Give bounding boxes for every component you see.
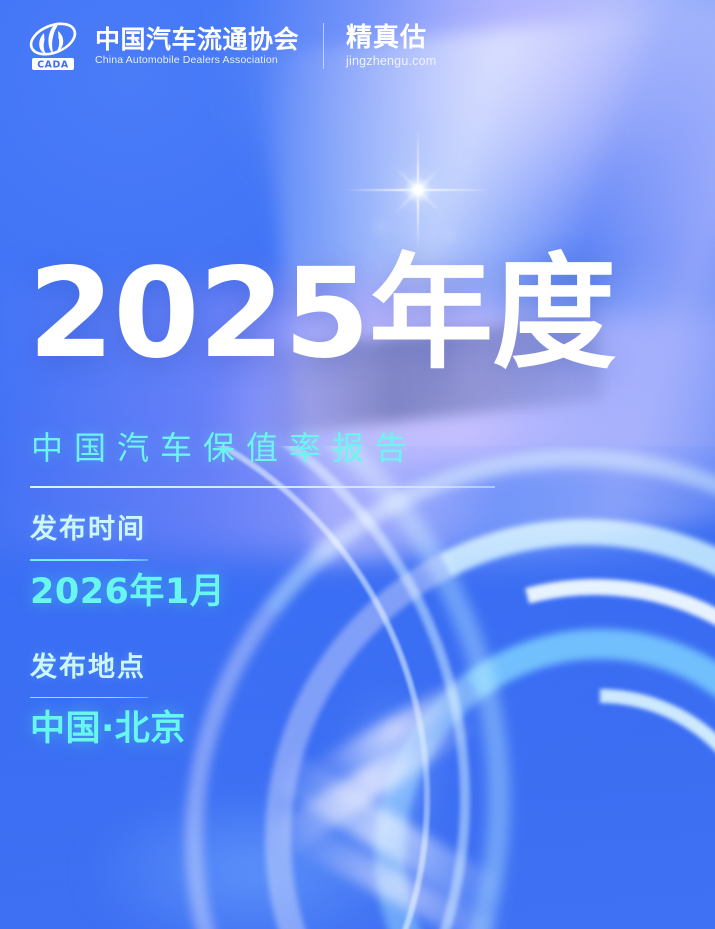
cada-emblem-icon: CADA: [24, 19, 82, 73]
release-time-label: 发布时间: [30, 516, 225, 543]
page-title: 2025年度: [28, 252, 615, 376]
cada-logo: CADA 中国汽车流通协会 China Automobile Dealers A…: [24, 19, 299, 73]
release-place-value: 中国·北京: [30, 712, 225, 747]
cada-name-cn: 中国汽车流通协会: [95, 27, 299, 52]
svg-text:CADA: CADA: [37, 59, 69, 70]
page-subtitle: 中国汽车保值率报告: [31, 432, 418, 464]
meta-spacer: [30, 610, 225, 654]
report-cover-poster: CADA 中国汽车流通协会 China Automobile Dealers A…: [0, 0, 715, 929]
title-underline-rule: [30, 486, 495, 488]
poster-header: CADA 中国汽车流通协会 China Automobile Dealers A…: [0, 0, 715, 92]
release-time-value: 2026年1月: [30, 575, 225, 610]
poster-content: 2025年度 中国汽车保值率报告 发布时间 2026年1月 发布地点 中国·北京: [0, 0, 715, 929]
jingzhengu-name-cn: 精真估: [346, 25, 436, 51]
release-place-rule: [30, 697, 148, 699]
jingzhengu-url: jingzhengu.com: [346, 55, 436, 68]
header-divider: [323, 23, 324, 69]
release-meta-block: 发布时间 2026年1月 发布地点 中国·北京: [30, 516, 225, 747]
release-place-label: 发布地点: [30, 654, 225, 681]
cada-logo-text: 中国汽车流通协会 China Automobile Dealers Associ…: [95, 27, 299, 66]
jingzhengu-logo: 精真估 jingzhengu.com: [346, 25, 436, 68]
cada-name-en: China Automobile Dealers Association: [95, 55, 299, 66]
release-time-rule: [30, 559, 148, 561]
